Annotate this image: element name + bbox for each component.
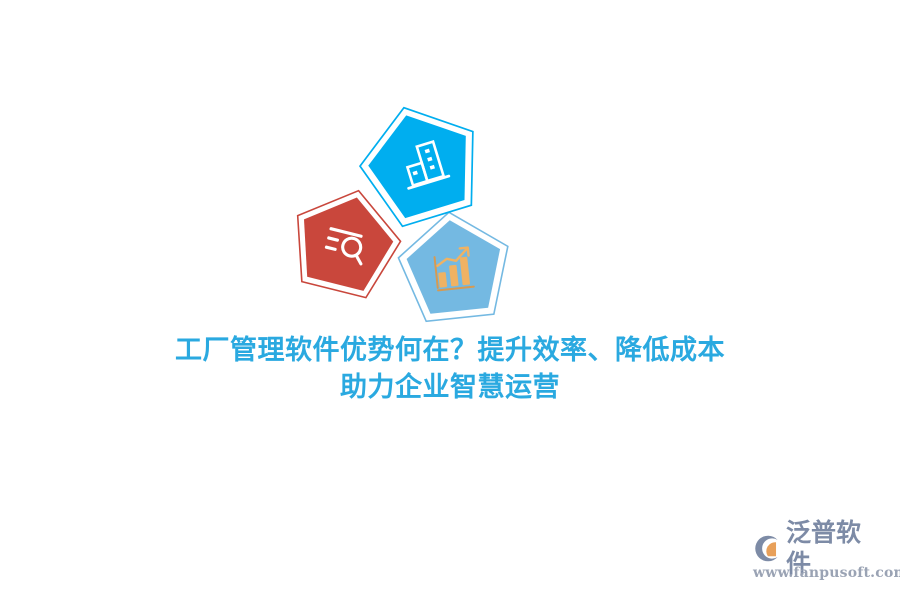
page-title-line-2: 助力企业智慧运营: [0, 369, 900, 406]
pentagon-cluster-svg: [270, 95, 530, 325]
page-title-line-1: 工厂管理软件优势何在？提升效率、降低成本: [0, 332, 900, 369]
page-title: 工厂管理软件优势何在？提升效率、降低成本 助力企业智慧运营: [0, 332, 900, 407]
brand-logo: 泛普软件 www.fanpusoft.com: [752, 532, 884, 584]
brand-logo-url: www.fanpusoft.com: [752, 565, 884, 581]
fanpu-swirl-logo-icon: [752, 533, 783, 564]
poster-canvas: 工厂管理软件优势何在？提升效率、降低成本 助力企业智慧运营 泛普软件 www.f…: [0, 0, 900, 600]
pentagon-cluster: [270, 95, 530, 325]
pentagon-blue-building: [347, 90, 493, 233]
brand-logo-row: 泛普软件: [752, 532, 884, 564]
